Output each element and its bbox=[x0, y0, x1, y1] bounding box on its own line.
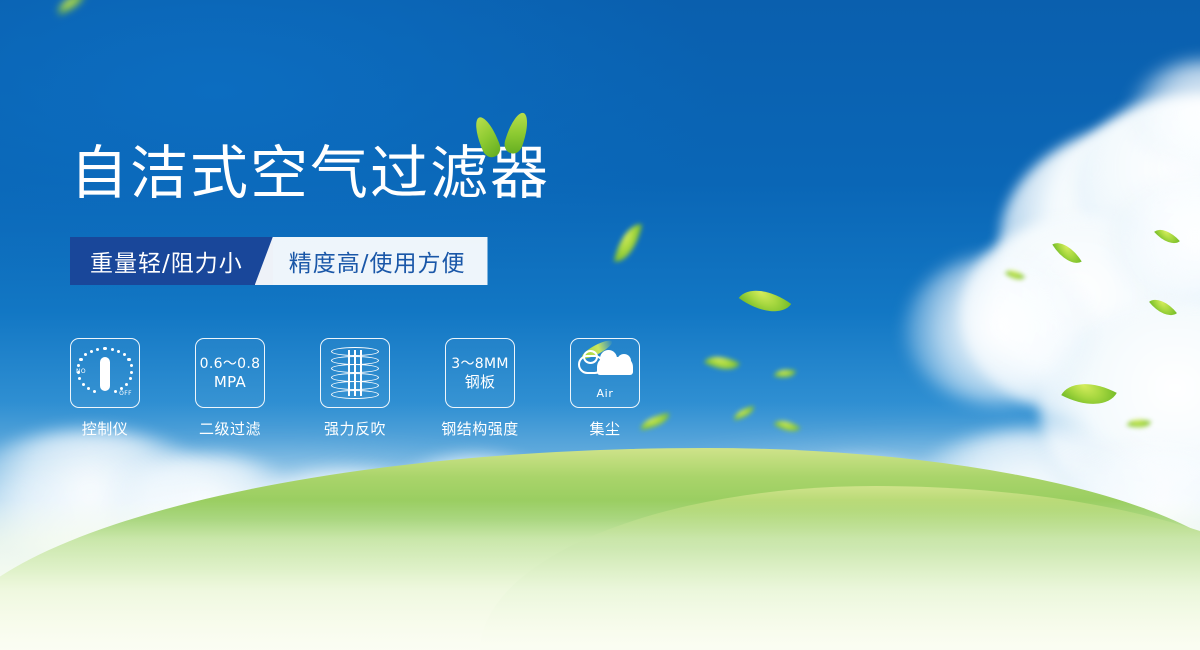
subtitle-bar: 重量轻/阻力小 精度高/使用方便 bbox=[70, 237, 488, 285]
leaf-right-icon bbox=[502, 110, 532, 156]
field-highlight bbox=[0, 500, 1200, 650]
cloud-air-icon bbox=[577, 346, 633, 386]
feature-label: 控制仪 bbox=[82, 418, 129, 439]
feature-box-text-line1: 3～8MM bbox=[451, 355, 508, 373]
feature-box: Air bbox=[570, 338, 640, 408]
subtitle-right-text: 精度高/使用方便 bbox=[289, 244, 466, 278]
feature-label: 二级过滤 bbox=[199, 418, 261, 439]
air-label: Air bbox=[597, 387, 614, 400]
feature-item-filter[interactable]: 0.6～0.8 MPA 二级过滤 bbox=[195, 338, 265, 439]
feature-label: 集尘 bbox=[589, 418, 620, 439]
gauge-icon: NO OFF bbox=[77, 345, 133, 401]
gauge-label-no: NO bbox=[76, 368, 86, 375]
floating-leaf bbox=[774, 365, 796, 381]
feature-box bbox=[320, 338, 390, 408]
coil-filter-icon bbox=[331, 347, 379, 399]
feature-list: NO OFF 控制仪 0.6～0.8 MPA 二级过滤 bbox=[70, 338, 640, 439]
gauge-label-off: OFF bbox=[119, 390, 132, 397]
cloud-shape bbox=[905, 255, 1095, 405]
feature-item-dust[interactable]: Air 集尘 bbox=[570, 338, 640, 439]
product-banner: 自洁式空气过滤器 重量轻/阻力小 精度高/使用方便 bbox=[0, 0, 1200, 650]
subtitle-segment-right: 精度高/使用方便 bbox=[255, 237, 488, 285]
floating-leaf bbox=[704, 348, 740, 377]
feature-item-control[interactable]: NO OFF 控制仪 bbox=[70, 338, 140, 439]
feature-box-text-line1: 0.6～0.8 bbox=[200, 355, 261, 373]
feature-box: 0.6～0.8 MPA bbox=[195, 338, 265, 408]
feature-label: 强力反吹 bbox=[324, 418, 386, 439]
feature-item-steel[interactable]: 3～8MM 钢板 钢结构强度 bbox=[445, 338, 515, 439]
floating-leaf bbox=[739, 277, 791, 325]
feature-box-text-line2: 钢板 bbox=[465, 373, 496, 391]
leaf-left-icon bbox=[471, 114, 503, 160]
subtitle-segment-left: 重量轻/阻力小 bbox=[70, 237, 273, 285]
gauge-needle bbox=[100, 357, 110, 391]
floating-leaf bbox=[614, 220, 642, 265]
floating-leaf bbox=[55, 0, 88, 14]
sprout-leaves-icon bbox=[470, 110, 540, 160]
feature-box: 3～8MM 钢板 bbox=[445, 338, 515, 408]
feature-item-blowback[interactable]: 强力反吹 bbox=[320, 338, 390, 439]
cloud-solid-shape bbox=[600, 350, 617, 367]
cloud-solid-shape bbox=[617, 354, 631, 368]
feature-box-text-line2: MPA bbox=[214, 373, 246, 391]
subtitle-left-text: 重量轻/阻力小 bbox=[90, 244, 243, 278]
cloud-outline-shape bbox=[583, 350, 598, 364]
feature-box: NO OFF bbox=[70, 338, 140, 408]
feature-label: 钢结构强度 bbox=[441, 418, 519, 439]
